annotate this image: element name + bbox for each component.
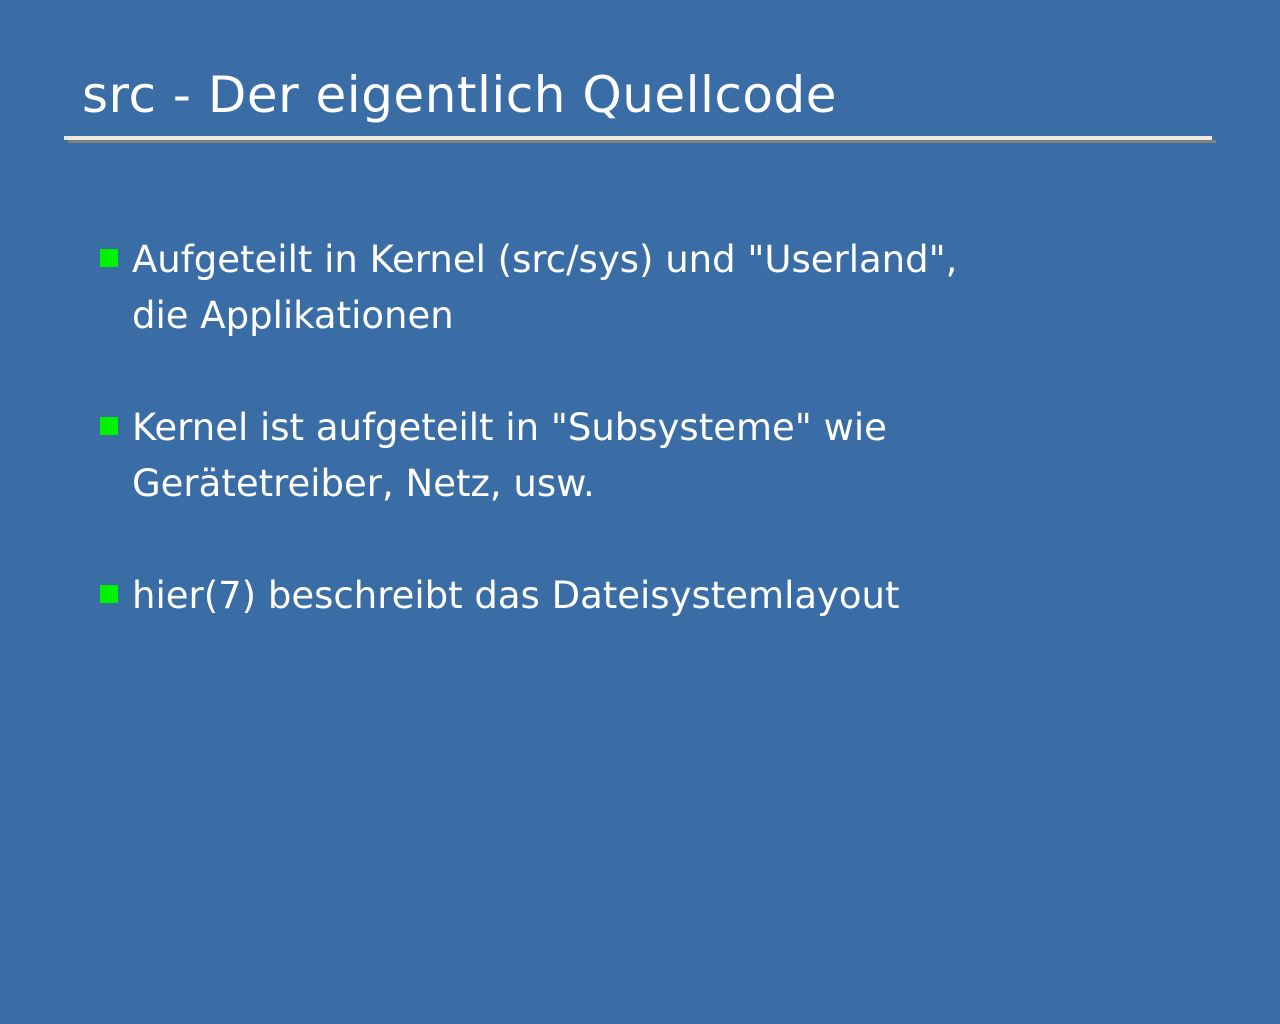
list-item-line: Aufgeteilt in Kernel (src/sys) und "User… xyxy=(132,232,1132,288)
list-item-line: die Applikationen xyxy=(132,288,1132,344)
list-item-text: Kernel ist aufgeteilt in "Subsysteme" wi… xyxy=(132,400,1132,512)
list-item: Aufgeteilt in Kernel (src/sys) und "User… xyxy=(100,232,1230,344)
square-bullet-icon xyxy=(100,585,118,603)
list-item-line: Kernel ist aufgeteilt in "Subsysteme" wi… xyxy=(132,400,1132,456)
list-item-line: Gerätetreiber, Netz, usw. xyxy=(132,456,1132,512)
slide-content-body: Aufgeteilt in Kernel (src/sys) und "User… xyxy=(100,232,1230,624)
page-title: src - Der eigentlich Quellcode xyxy=(64,62,1216,128)
title-divider-shadow xyxy=(68,140,1216,143)
presentation-slide: src - Der eigentlich Quellcode Aufgeteil… xyxy=(0,0,1280,1024)
square-bullet-icon xyxy=(100,417,118,435)
list-item-text: Aufgeteilt in Kernel (src/sys) und "User… xyxy=(132,232,1132,344)
title-divider-rule xyxy=(64,136,1216,143)
list-item-text: hier(7) beschreibt das Dateisystemlayout xyxy=(132,568,1132,624)
list-item: hier(7) beschreibt das Dateisystemlayout xyxy=(100,568,1230,624)
list-item: Kernel ist aufgeteilt in "Subsysteme" wi… xyxy=(100,400,1230,512)
square-bullet-icon xyxy=(100,249,118,267)
list-item-line: hier(7) beschreibt das Dateisystemlayout xyxy=(132,568,1132,624)
slide-title-block: src - Der eigentlich Quellcode xyxy=(64,62,1216,143)
